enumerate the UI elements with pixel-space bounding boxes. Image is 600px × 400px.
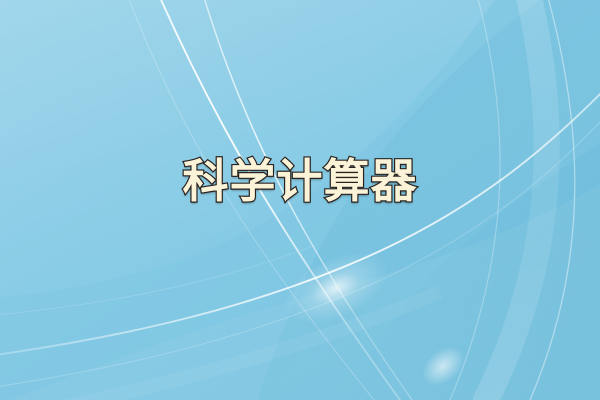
title-layer: 科学计算器 <box>0 0 600 400</box>
poster-canvas: 科学计算器 <box>0 0 600 400</box>
page-title: 科学计算器 <box>183 158 418 204</box>
